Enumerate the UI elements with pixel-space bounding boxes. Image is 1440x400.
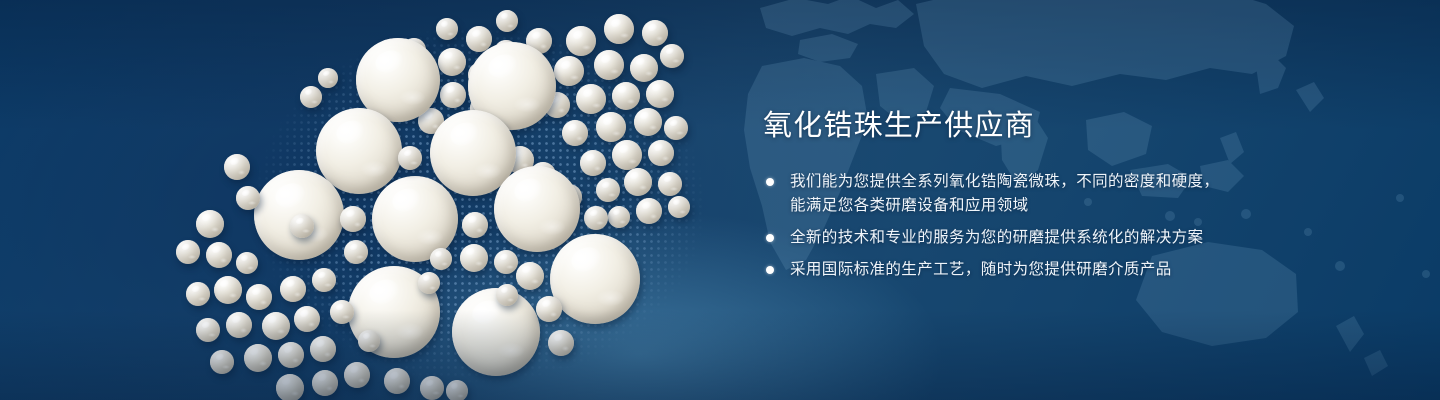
list-item: 采用国际标准的生产工艺，随时为您提供研磨介质产品 [763, 258, 1283, 282]
banner-title: 氧化锆珠生产供应商 [763, 108, 1283, 144]
list-item: 我们能为您提供全系列氧化锆陶瓷微珠，不同的密度和硬度， 能满足您各类研磨设备和应… [763, 170, 1283, 218]
list-item-line: 能满足您各类研磨设备和应用领域 [790, 194, 1283, 218]
bullet-dot-icon [766, 234, 774, 242]
list-item-line: 我们能为您提供全系列氧化锆陶瓷微珠，不同的密度和硬度， [790, 170, 1283, 194]
feature-list: 我们能为您提供全系列氧化锆陶瓷微珠，不同的密度和硬度， 能满足您各类研磨设备和应… [763, 170, 1283, 282]
list-item-line: 采用国际标准的生产工艺，随时为您提供研磨介质产品 [790, 258, 1283, 282]
bullet-dot-icon [766, 178, 774, 186]
zirconia-beads-image [0, 0, 780, 400]
list-item: 全新的技术和专业的服务为您的研磨提供系统化的解决方案 [763, 226, 1283, 250]
hero-banner: 氧化锆珠生产供应商 我们能为您提供全系列氧化锆陶瓷微珠，不同的密度和硬度， 能满… [0, 0, 1440, 400]
bullet-dot-icon [766, 266, 774, 274]
banner-copy: 氧化锆珠生产供应商 我们能为您提供全系列氧化锆陶瓷微珠，不同的密度和硬度， 能满… [763, 108, 1283, 282]
list-item-line: 全新的技术和专业的服务为您的研磨提供系统化的解决方案 [790, 226, 1283, 250]
